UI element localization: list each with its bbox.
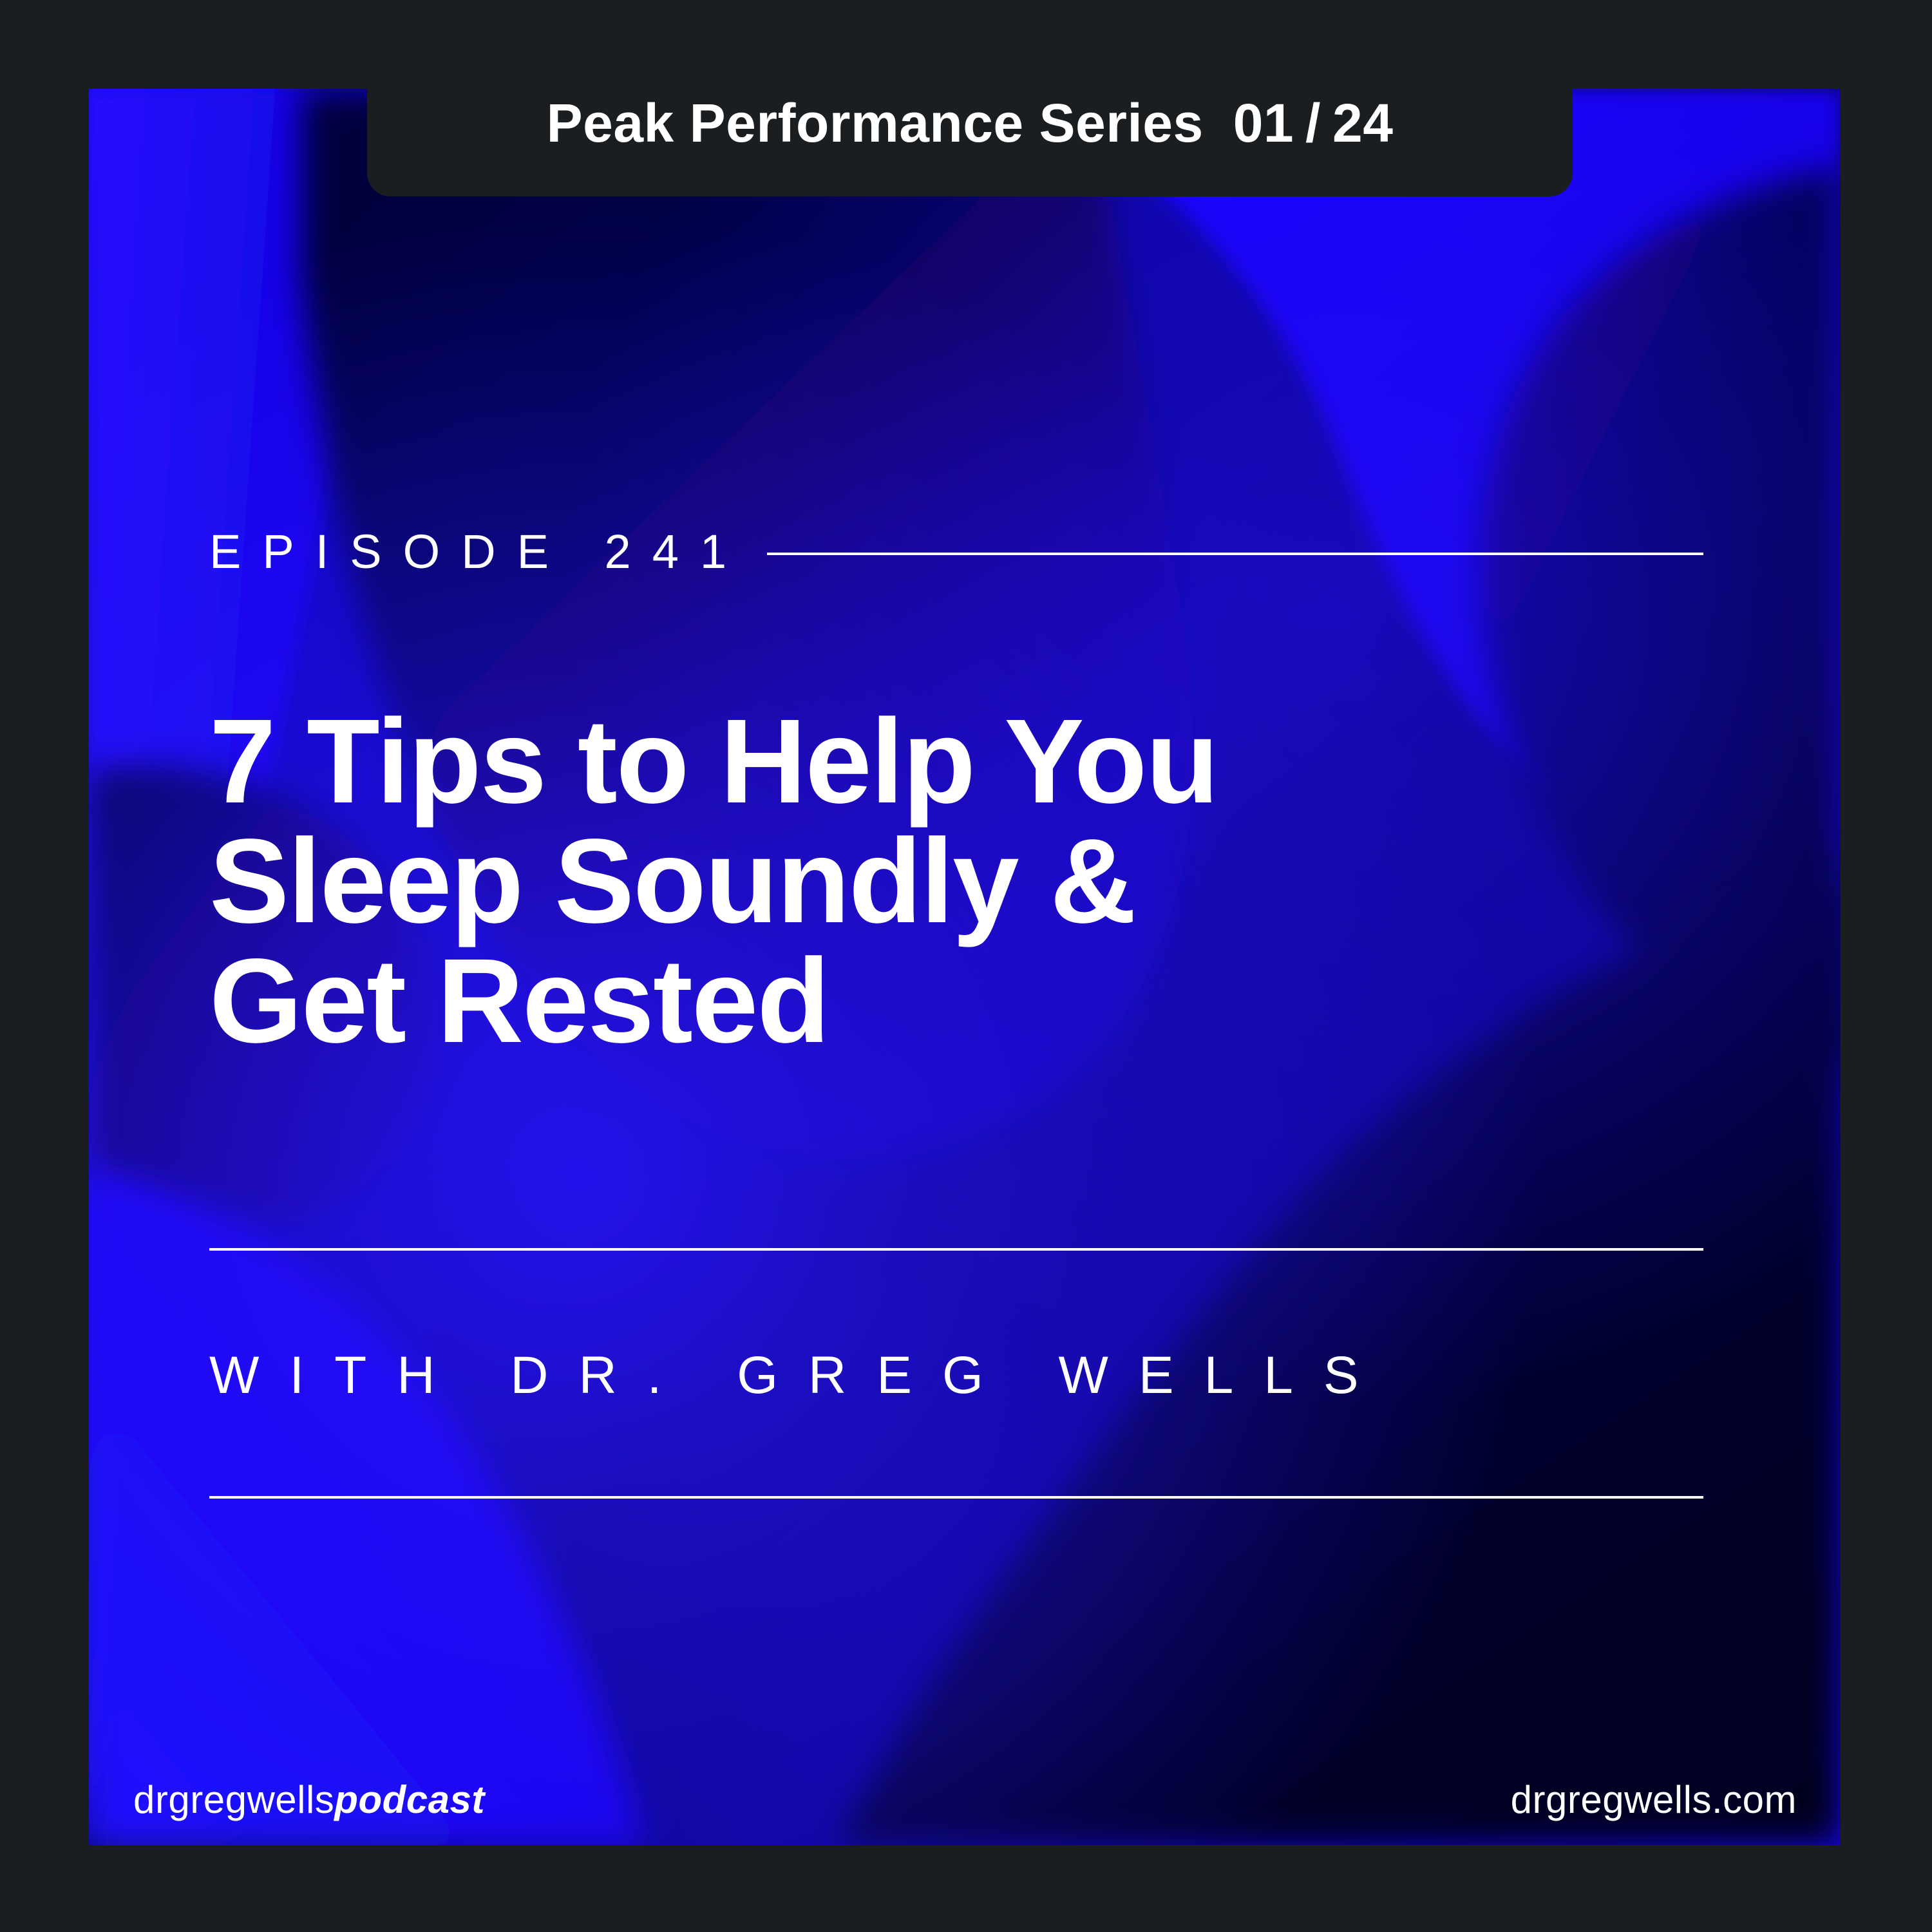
title-line-2: Sleep Soundly &	[209, 822, 1626, 942]
badge-separator: /	[1305, 93, 1321, 153]
episode-index: 01	[1233, 93, 1294, 153]
page-title: 7 Tips to Help You Sleep Soundly & Get R…	[209, 702, 1626, 1061]
footer-brand-regular: drgregwells	[133, 1778, 334, 1821]
host-credit: WITH DR. GREG WELLS	[209, 1349, 1389, 1402]
episode-row: EPISODE 241	[209, 528, 1703, 576]
podcast-cover-art: Peak Performance Series01/24 EPISODE 241…	[0, 0, 1932, 1932]
episode-total: 24	[1332, 93, 1393, 153]
series-name: Peak Performance Series	[547, 93, 1204, 153]
cover-content: EPISODE 241 7 Tips to Help You Sleep Sou…	[0, 0, 1932, 1932]
episode-rule	[767, 553, 1703, 555]
divider-below-host	[209, 1496, 1703, 1499]
series-badge: Peak Performance Series01/24	[367, 0, 1573, 196]
footer-website: drgregwells.com	[1511, 1781, 1797, 1819]
title-line-3: Get Rested	[209, 942, 1626, 1061]
series-badge-text: Peak Performance Series01/24	[547, 96, 1394, 150]
footer-brand: drgregwellspodcast	[133, 1781, 485, 1819]
title-line-1: 7 Tips to Help You	[209, 702, 1626, 822]
divider-above-host	[209, 1248, 1703, 1251]
footer-brand-bold: podcast	[334, 1778, 485, 1821]
episode-label: EPISODE 241	[209, 528, 748, 576]
